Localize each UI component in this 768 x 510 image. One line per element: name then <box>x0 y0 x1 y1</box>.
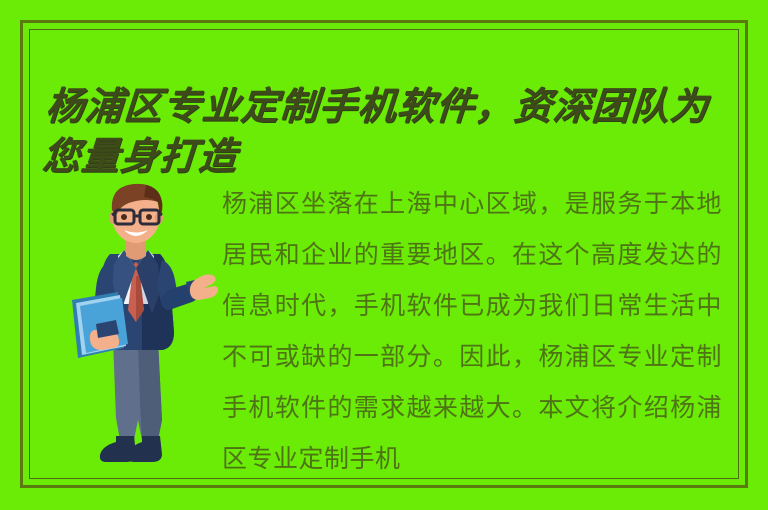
trousers-shadow <box>138 340 162 440</box>
hand-right-open-palm <box>190 274 218 300</box>
eye-left <box>121 214 127 220</box>
businessman-illustration <box>58 172 218 480</box>
poster-canvas: 杨浦区专业定制手机软件，资深团队为您量身打造 杨浦区坐落在上海中心区域，是服务于… <box>0 0 768 510</box>
page-title: 杨浦区专业定制手机软件，资深团队为您量身打造 <box>40 81 737 181</box>
body-paragraph: 杨浦区坐落在上海中心区域，是服务于本地居民和企业的重要地区。在这个高度发达的信息… <box>222 178 722 484</box>
eye-right <box>146 214 152 220</box>
